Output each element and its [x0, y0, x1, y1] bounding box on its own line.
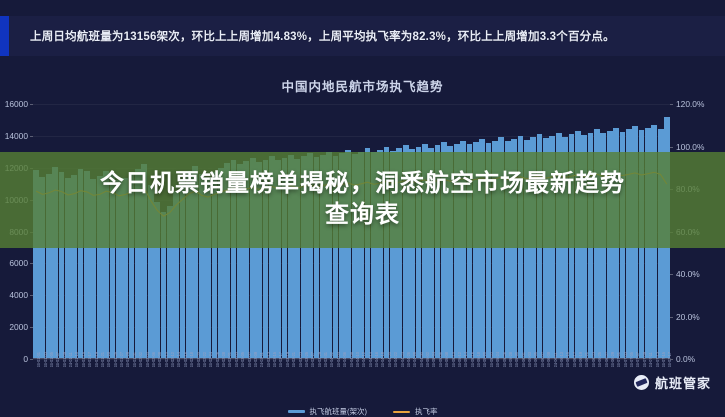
- y-axis-right-label: 0.0%: [676, 354, 695, 364]
- y-axis-left-tick: [30, 263, 33, 264]
- brand-logo-text: 航班管家: [655, 373, 711, 392]
- headline-line-2: 查询表: [325, 200, 400, 231]
- y-axis-left-tick: [30, 295, 33, 296]
- y-axis-right-label: 120.0%: [676, 99, 704, 109]
- y-axis-left-label: 4000: [9, 290, 28, 300]
- chart-title: 中国内地民航市场执飞趋势: [0, 76, 725, 95]
- y-axis-right-tick: [670, 317, 673, 318]
- y-axis-right-label: 40.0%: [676, 269, 700, 279]
- legend-swatch: [393, 411, 410, 413]
- y-axis-left-tick: [30, 136, 33, 137]
- screenshot-root: 上周日均航班量为13156架次，环比上上周增加4.83%，上周平均执飞率为82.…: [0, 0, 725, 400]
- brand-logo: 航班管家: [634, 373, 711, 392]
- y-axis-right-label: 20.0%: [676, 312, 700, 322]
- y-axis-left-tick: [30, 327, 33, 328]
- summary-banner-text: 上周日均航班量为13156架次，环比上上周增加4.83%，上周平均执飞率为82.…: [30, 28, 615, 44]
- summary-banner: 上周日均航班量为13156架次，环比上上周增加4.83%，上周平均执飞率为82.…: [0, 16, 725, 56]
- chart-legend: 执飞航班量(架次)执飞率: [0, 406, 725, 417]
- y-axis-right-label: 100.0%: [676, 142, 704, 152]
- y-axis-right-tick: [670, 147, 673, 148]
- y-axis-left-label: 14000: [5, 131, 28, 141]
- headline-line-1: 今日机票销量榜单揭秘，洞悉航空市场最新趋势: [100, 169, 625, 200]
- y-axis-right-tick: [670, 274, 673, 275]
- y-axis-left-label: 16000: [5, 99, 28, 109]
- legend-label: 执飞率: [415, 406, 438, 417]
- footer-bar: 航班管家: [0, 367, 725, 400]
- y-axis-right-tick: [670, 104, 673, 105]
- y-axis-left-label: 2000: [9, 322, 28, 332]
- headline-overlay: 今日机票销量榜单揭秘，洞悉航空市场最新趋势 查询表: [0, 152, 725, 248]
- legend-item[interactable]: 执飞航班量(架次): [288, 406, 368, 417]
- y-axis-left-tick: [30, 104, 33, 105]
- legend-label: 执飞航班量(架次): [310, 406, 368, 417]
- y-axis-left-label: 0: [23, 354, 28, 364]
- legend-swatch: [288, 410, 305, 413]
- globe-plane-icon: [634, 375, 649, 390]
- legend-item[interactable]: 执飞率: [393, 406, 438, 417]
- y-axis-left-tick: [30, 359, 33, 360]
- y-axis-left-label: 6000: [9, 258, 28, 268]
- banner-accent-bar: [0, 16, 9, 56]
